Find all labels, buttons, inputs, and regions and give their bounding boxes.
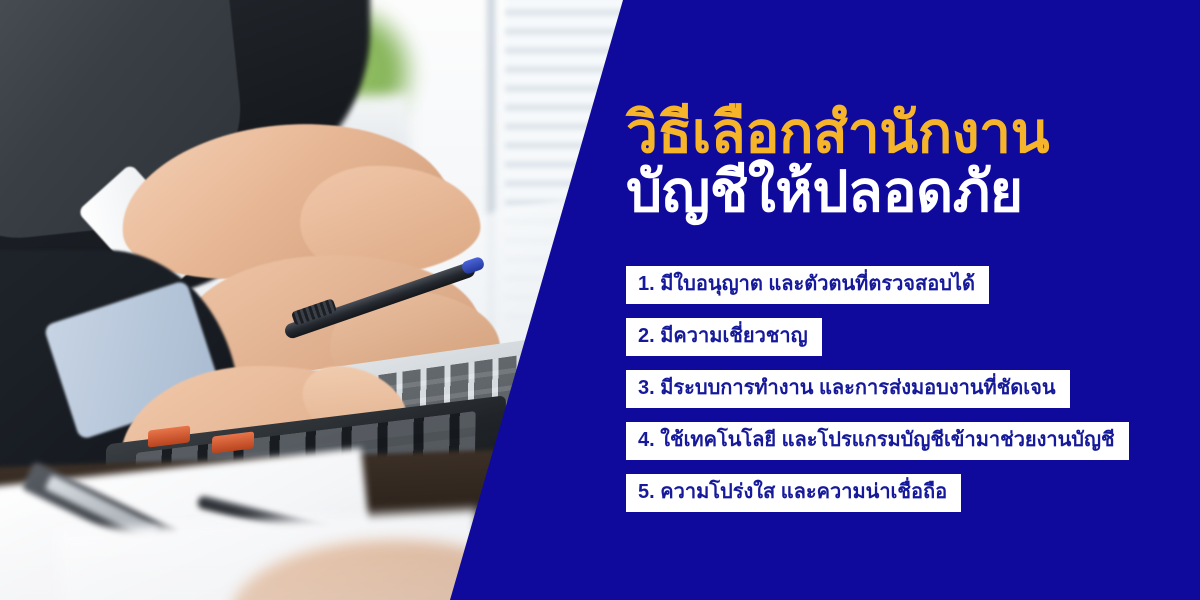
list-item: 2. มีความเชี่ยวชาญ [626, 318, 822, 356]
list-item: 5. ความโปร่งใส และความน่าเชื่อถือ [626, 474, 961, 512]
content-area: วิธีเลือกสำนักงาน บัญชีให้ปลอดภัย 1. มีใ… [626, 0, 1186, 600]
banner: วิธีเลือกสำนักงาน บัญชีให้ปลอดภัย 1. มีใ… [0, 0, 1200, 600]
checklist: 1. มีใบอนุญาต และตัวตนที่ตรวจสอบได้ 2. ม… [626, 266, 1186, 526]
headline-line-1: วิธีเลือกสำนักงาน [626, 104, 1186, 163]
headline-line-2: บัญชีให้ปลอดภัย [626, 163, 1186, 222]
list-item: 3. มีระบบการทำงาน และการส่งมอบงานที่ชัดเ… [626, 370, 1070, 408]
headline: วิธีเลือกสำนักงาน บัญชีให้ปลอดภัย [626, 104, 1186, 221]
list-item: 4. ใช้เทคโนโลยี และโปรแกรมบัญชีเข้ามาช่ว… [626, 422, 1129, 460]
list-item: 1. มีใบอนุญาต และตัวตนที่ตรวจสอบได้ [626, 266, 989, 304]
